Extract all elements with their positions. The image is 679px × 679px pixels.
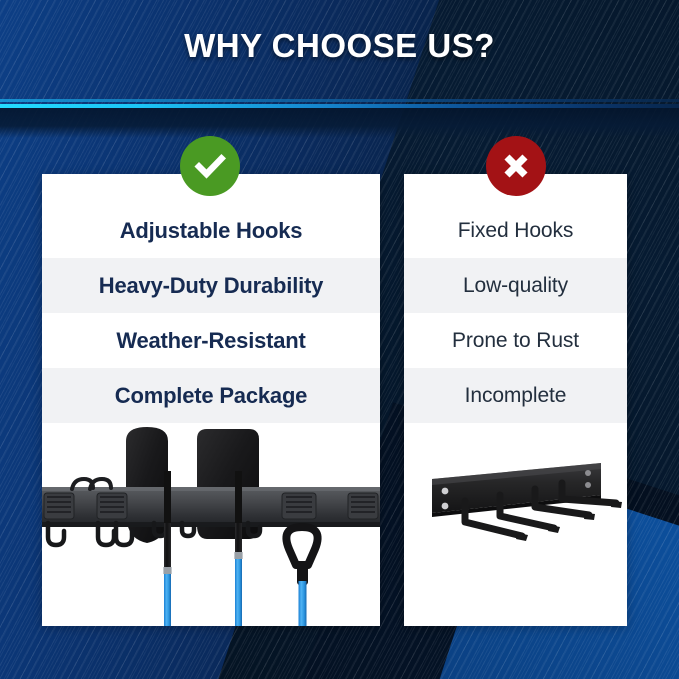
pro-row-1: Adjustable Hooks xyxy=(42,203,380,258)
infographic-canvas: WHY CHOOSE US? Adjustable Hooks Heavy-Du… xyxy=(0,0,679,679)
con-row-label: Low-quality xyxy=(463,274,568,298)
con-row-label: Fixed Hooks xyxy=(458,219,574,243)
con-card: Fixed Hooks Low-quality Prone to Rust In… xyxy=(404,174,627,626)
con-row-4: Incomplete xyxy=(404,368,627,423)
con-row-2: Low-quality xyxy=(404,258,627,313)
pro-row-2: Heavy-Duty Durability xyxy=(42,258,380,313)
con-row-label: Incomplete xyxy=(465,384,567,408)
con-row-1: Fixed Hooks xyxy=(404,203,627,258)
accent-line-secondary xyxy=(0,99,679,102)
pro-row-4: Complete Package xyxy=(42,368,380,423)
pro-row-label: Adjustable Hooks xyxy=(120,218,303,244)
pro-product-image xyxy=(42,423,380,626)
pro-row-3: Weather-Resistant xyxy=(42,313,380,368)
x-icon xyxy=(486,136,546,196)
page-title: WHY CHOOSE US? xyxy=(0,27,679,65)
pro-row-label: Weather-Resistant xyxy=(116,328,305,354)
con-product-image xyxy=(404,423,627,626)
con-row-list: Fixed Hooks Low-quality Prone to Rust In… xyxy=(404,203,627,423)
check-icon xyxy=(180,136,240,196)
con-row-label: Prone to Rust xyxy=(452,329,579,353)
pro-row-label: Heavy-Duty Durability xyxy=(99,273,323,299)
pro-card: Adjustable Hooks Heavy-Duty Durability W… xyxy=(42,174,380,626)
pro-row-label: Complete Package xyxy=(115,383,307,409)
con-row-3: Prone to Rust xyxy=(404,313,627,368)
header-shadow-band xyxy=(0,108,679,138)
pro-row-list: Adjustable Hooks Heavy-Duty Durability W… xyxy=(42,203,380,423)
